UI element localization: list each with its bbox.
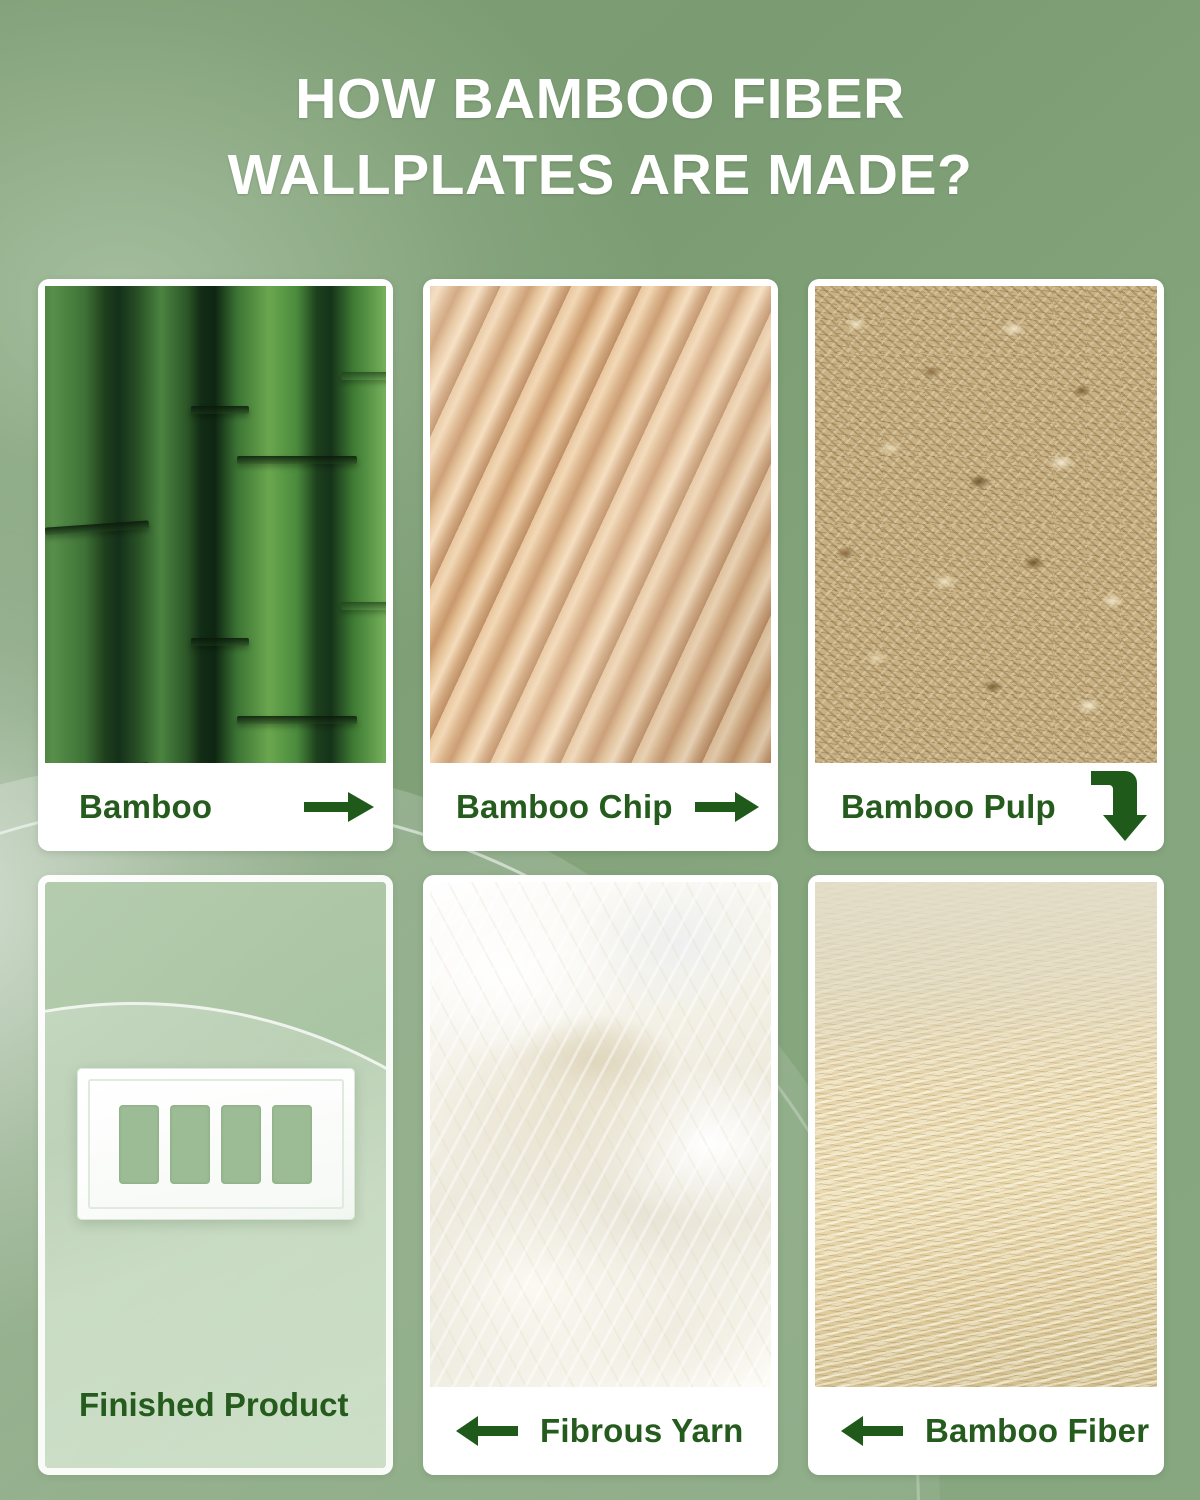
bamboo-fiber-photo <box>815 882 1157 1387</box>
process-steps-grid: Bamboo Bamboo Chip <box>38 279 1164 1475</box>
wallplate-product-illustration <box>77 1068 355 1220</box>
step-label-bamboo-pulp: Bamboo Pulp <box>841 788 1056 826</box>
step-label-bamboo-chip: Bamboo Chip <box>456 788 673 826</box>
right-arrow-icon <box>304 790 376 824</box>
fibrous-yarn-photo <box>430 882 771 1387</box>
infographic-poster: HOW BAMBOO FIBER WALLPLATES ARE MADE? Ba… <box>0 0 1200 1500</box>
step-card-bamboo-pulp: Bamboo Pulp <box>808 279 1164 851</box>
label-bar-fibrous-yarn: Fibrous Yarn <box>430 1387 771 1475</box>
wallplate-opening <box>221 1105 261 1184</box>
label-bar-bamboo: Bamboo <box>45 763 386 851</box>
step-card-finished-product: Finished Product <box>38 875 393 1475</box>
elbow-down-arrow-icon <box>1089 769 1151 845</box>
label-bar-bamboo-fiber: Bamboo Fiber <box>815 1387 1157 1475</box>
wallplate-opening <box>272 1105 312 1184</box>
step-card-bamboo-fiber: Bamboo Fiber <box>808 875 1164 1475</box>
page-title: HOW BAMBOO FIBER WALLPLATES ARE MADE? <box>0 62 1200 214</box>
bamboo-stalks-photo <box>45 286 386 763</box>
label-bar-bamboo-chip: Bamboo Chip <box>430 763 771 851</box>
step-label-bamboo: Bamboo <box>79 788 212 826</box>
label-bar-bamboo-pulp: Bamboo Pulp <box>815 763 1157 851</box>
left-arrow-icon <box>841 1414 903 1448</box>
step-card-fibrous-yarn: Fibrous Yarn <box>423 875 778 1475</box>
page-title-line-1: HOW BAMBOO FIBER <box>110 62 1090 138</box>
bamboo-pulp-photo <box>815 286 1157 763</box>
wallplate-opening <box>170 1105 210 1184</box>
step-label-bamboo-fiber: Bamboo Fiber <box>925 1412 1149 1450</box>
left-arrow-icon <box>456 1414 518 1448</box>
right-arrow-icon <box>695 790 761 824</box>
step-card-bamboo: Bamboo <box>38 279 393 851</box>
step-card-bamboo-chip: Bamboo Chip <box>423 279 778 851</box>
step-label-finished-product: Finished Product <box>79 1386 349 1424</box>
wallplate-opening <box>119 1105 159 1184</box>
four-gang-wallplate <box>77 1068 355 1220</box>
page-title-line-2: WALLPLATES ARE MADE? <box>110 138 1090 214</box>
bamboo-chips-photo <box>430 286 771 763</box>
step-label-fibrous-yarn: Fibrous Yarn <box>540 1412 744 1450</box>
